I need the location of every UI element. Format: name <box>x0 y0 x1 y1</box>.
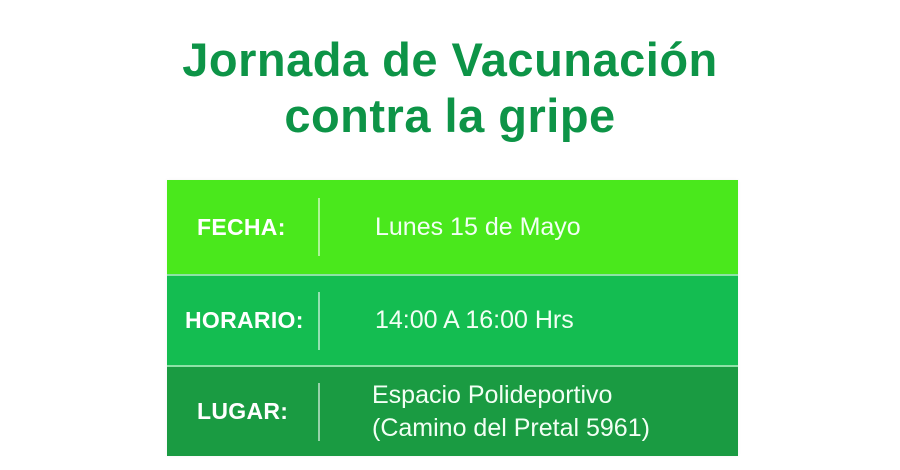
fecha-value: Lunes 15 de Mayo <box>320 211 738 244</box>
table-row-fecha: FECHA: Lunes 15 de Mayo <box>167 180 738 274</box>
lugar-value-line-2: (Camino del Pretal 5961) <box>372 412 738 445</box>
lugar-value: Espacio Polideportivo (Camino del Pretal… <box>320 379 738 445</box>
lugar-value-line-1: Espacio Polideportivo <box>372 379 738 412</box>
table-row-horario: HORARIO: 14:00 A 16:00 Hrs <box>167 274 738 365</box>
horario-value: 14:00 A 16:00 Hrs <box>320 304 738 337</box>
event-details-table: FECHA: Lunes 15 de Mayo HORARIO: 14:00 A… <box>167 180 738 456</box>
vaccination-poster: Jornada de Vacunación contra la gripe FE… <box>0 0 900 470</box>
table-row-lugar: LUGAR: Espacio Polideportivo (Camino del… <box>167 365 738 456</box>
page-title: Jornada de Vacunación contra la gripe <box>0 36 900 139</box>
page-title-line-1: Jornada de Vacunación <box>0 36 900 83</box>
fecha-label: FECHA: <box>167 214 318 241</box>
lugar-label: LUGAR: <box>167 398 318 425</box>
horario-label: HORARIO: <box>167 307 318 334</box>
page-title-line-2: contra la gripe <box>0 92 900 139</box>
